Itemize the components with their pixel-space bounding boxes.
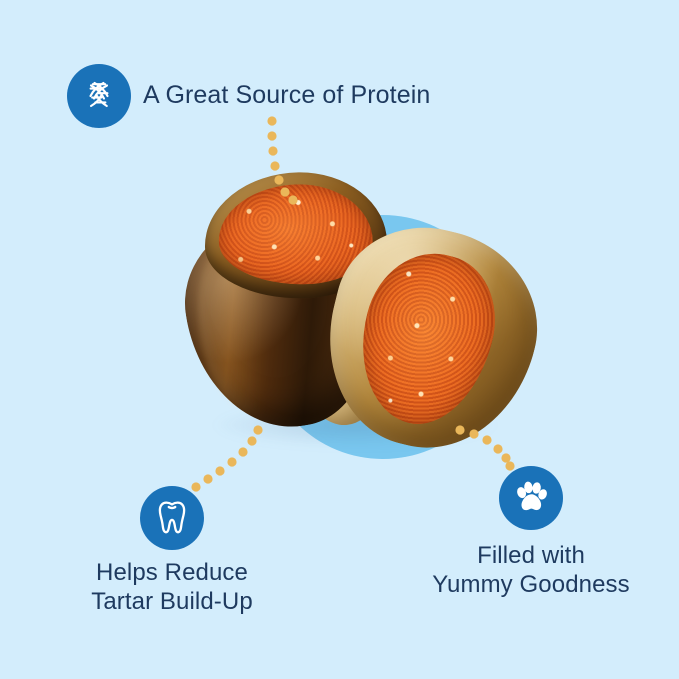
dna-icon [82,79,116,113]
tartar-connector-dot [215,466,224,475]
protein-connector-dot [267,116,276,125]
protein-label: A Great Source of Protein [143,80,430,111]
tartar-connector-dot [191,482,200,491]
yummy-label-line-2: Yummy Goodness [432,571,630,598]
tooth-icon [155,499,189,537]
protein-badge[interactable] [67,64,131,128]
yummy-badge[interactable] [499,466,563,530]
tartar-label: Helps ReduceTartar Build-Up [50,558,294,616]
yummy-label-line-1: Filled with [477,542,585,569]
protein-connector-dot [267,131,276,140]
tartar-badge[interactable] [140,486,204,550]
protein-connector-dot [268,146,277,155]
tartar-label-line-2: Tartar Build-Up [91,588,253,615]
tartar-connector-dot [203,474,212,483]
product-image [150,165,550,465]
infographic-canvas: A Great Source of Protein Helps ReduceTa… [0,0,679,679]
yummy-label: Filled withYummy Goodness [409,541,653,599]
tartar-label-line-1: Helps Reduce [96,559,248,586]
paw-icon [512,480,550,516]
